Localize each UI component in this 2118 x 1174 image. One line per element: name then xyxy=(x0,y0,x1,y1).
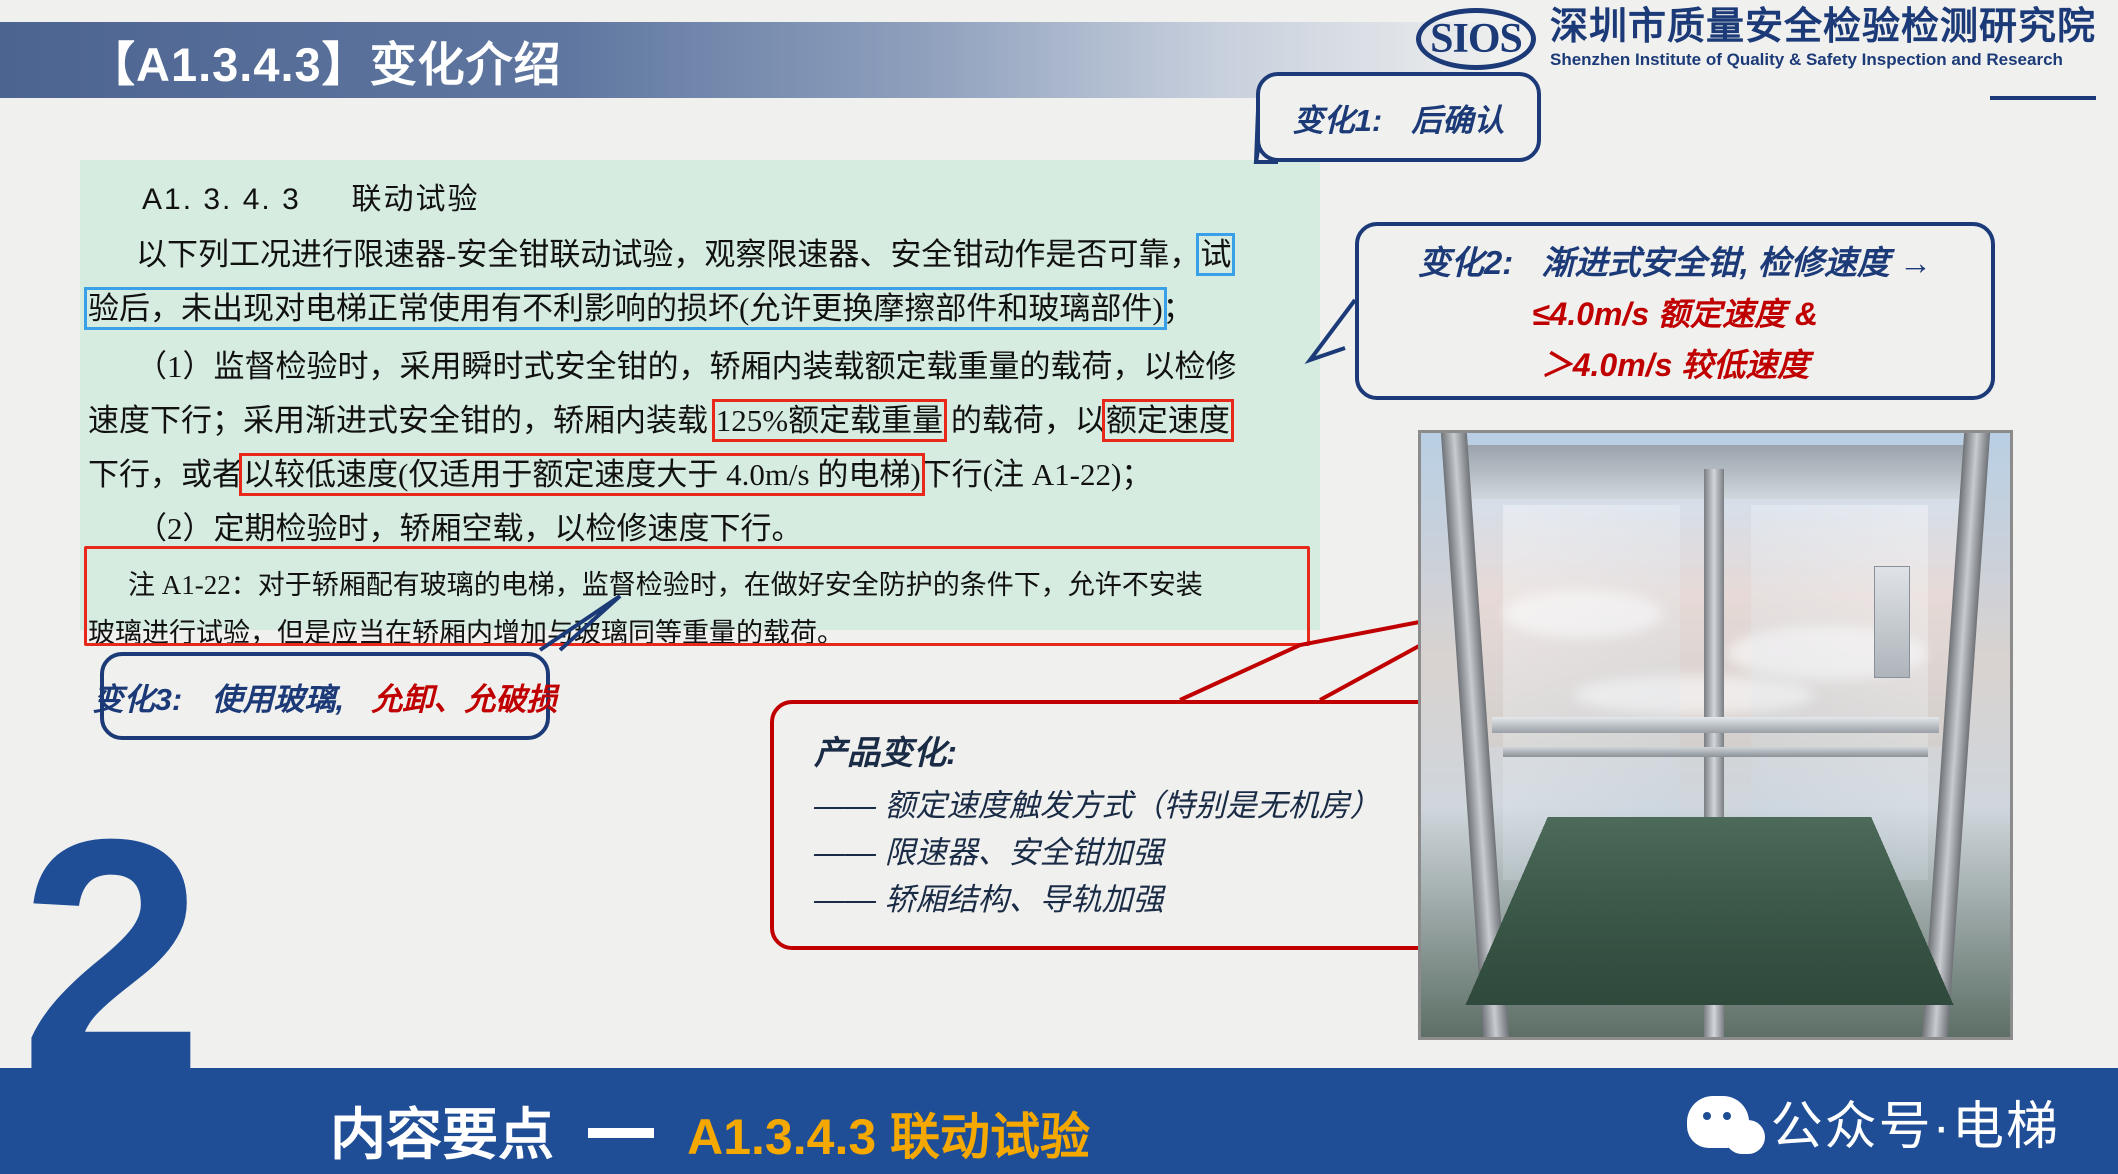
product-changes-item-1: —— 额定速度触发方式（特别是无机房） xyxy=(814,782,1456,829)
wechat-text: 公众号·电梯 xyxy=(1771,1084,2060,1159)
logo-text-block: 深圳市质量安全检验检测研究院 Shenzhen Institute of Qua… xyxy=(1550,8,2096,70)
intro-line-1-highlight: 试 xyxy=(1200,237,1231,272)
footer-divider-icon xyxy=(588,1128,654,1138)
callout-change3[interactable]: 变化3: 使用玻璃, 允卸、允破损 xyxy=(100,652,550,740)
item1-line-2-pre: 速度下行；采用渐进式安全钳的，轿厢内装载 xyxy=(88,403,716,438)
slide-canvas: 【A1.3.4.3】变化介绍 SIOS 深圳市质量安全检验检测研究院 Shenz… xyxy=(0,0,2118,1174)
logo-mark-text: SIOS xyxy=(1416,8,1536,70)
callout-change2[interactable]: 变化2: 渐进式安全钳, 检修速度 → ≤4.0m/s 额定速度 & ＞4.0m… xyxy=(1355,222,1995,400)
item1-line-3-post: 下行(注 A1-22)； xyxy=(921,457,1153,492)
wechat-icon xyxy=(1687,1096,1749,1148)
elevator-car-photo xyxy=(1418,430,2013,1040)
intro-line-2: 验后，未出现对电梯正常使用有不利影响的损坏(允许更换摩擦部件和玻璃部件)； xyxy=(88,282,1194,336)
callout-change1[interactable]: 变化1: 后确认 xyxy=(1256,72,1541,162)
org-logo: SIOS 深圳市质量安全检验检测研究院 Shenzhen Institute o… xyxy=(1416,8,2096,70)
page-title: 【A1.3.4.3】变化介绍 xyxy=(88,26,562,95)
callout-change3-label: 变化3: xyxy=(93,682,183,717)
product-changes-item-3: —— 轿厢结构、导轨加强 xyxy=(814,876,1456,923)
product-changes-title: 产品变化: xyxy=(814,726,1456,774)
callout-change1-label: 变化1: xyxy=(1293,103,1383,138)
logo-chinese-name: 深圳市质量安全检验检测研究院 xyxy=(1550,8,2096,48)
item1-line-2-highlight-125: 125%额定载重量 xyxy=(716,403,943,438)
photo-glass-floor xyxy=(1466,817,1953,1004)
note-line-1: 注 A1-22：对于轿厢配有玻璃的电梯，监督检验时，在做好安全防护的条件下，允许… xyxy=(128,558,1203,612)
footer-bar: 内容要点 A1.3.4.3 联动试验 公众号·电梯 xyxy=(0,1068,2118,1174)
intro-line-2-highlight: 验后，未出现对电梯正常使用有不利影响的损坏(允许更换摩擦部件和玻璃部件) xyxy=(88,291,1163,326)
footer-main-text: 内容要点 xyxy=(330,1103,554,1166)
photo-control-panel xyxy=(1874,566,1910,678)
item1-line-3-highlight-lower-speed: 以较低速度(仅适用于额定速度大于 4.0m/s 的电梯) xyxy=(243,457,921,492)
callout-change3-body: 使用玻璃, xyxy=(211,682,344,717)
photo-handrail xyxy=(1492,717,1940,733)
callout-change2-red-line2: ＞4.0m/s 较低速度 xyxy=(1541,340,1810,386)
callout-change2-line1: 变化2: 渐进式安全钳, 检修速度 → xyxy=(1418,236,1932,284)
callout-change1-text: 变化1: 后确认 xyxy=(1293,95,1505,140)
item1-line-3: 下行，或者以较低速度(仅适用于额定速度大于 4.0m/s 的电梯)下行(注 A1… xyxy=(88,448,1152,502)
callout-change3-red: 允卸、允破损 xyxy=(371,682,557,717)
item1-line-1: （1）监督检验时，采用瞬时式安全钳的，轿厢内装载额定载重量的载荷，以检修 xyxy=(136,340,1237,394)
clause-title: 联动试验 xyxy=(351,183,479,216)
logo-english-name: Shenzhen Institute of Quality & Safety I… xyxy=(1550,50,2096,70)
callout-change2-label: 变化2: xyxy=(1418,244,1513,281)
item1-line-2: 速度下行；采用渐进式安全钳的，轿厢内装载 125%额定载重量 的载荷，以额定速度 xyxy=(88,394,1230,448)
product-changes-box[interactable]: 产品变化: —— 额定速度触发方式（特别是无机房） —— 限速器、安全钳加强 —… xyxy=(770,700,1460,950)
intro-line-1: 以下列工况进行限速器-安全钳联动试验，观察限速器、安全钳动作是否可靠，试 xyxy=(136,228,1231,282)
photo-handrail-lower xyxy=(1503,747,1927,757)
callout-change2-red-line1: ≤4.0m/s 额定速度 & xyxy=(1532,289,1818,335)
wechat-watermark: 公众号·电梯 xyxy=(1687,1084,2060,1159)
item1-line-3-pre: 下行，或者 xyxy=(88,457,243,492)
logo-underline-rule xyxy=(1990,96,2096,100)
clause-heading: A1. 3. 4. 3 联动试验 xyxy=(142,174,479,218)
item1-line-2-highlight-rated-speed: 额定速度 xyxy=(1106,403,1230,438)
sios-logo-icon: SIOS xyxy=(1416,8,1536,70)
callout-change1-body: 后确认 xyxy=(1411,103,1504,138)
clause-number: A1. 3. 4. 3 xyxy=(142,183,301,216)
item2-line: （2）定期检验时，轿厢空载，以检修速度下行。 xyxy=(136,502,803,556)
item1-line-2-mid: 的载荷，以 xyxy=(943,403,1106,438)
intro-line-1-text: 以下列工况进行限速器-安全钳联动试验，观察限速器、安全钳动作是否可靠， xyxy=(136,237,1200,272)
callout-change3-text: 变化3: 使用玻璃, 允卸、允破损 xyxy=(93,674,558,719)
standard-text-panel: A1. 3. 4. 3 联动试验 以下列工况进行限速器-安全钳联动试验，观察限速… xyxy=(80,160,1320,630)
footer-title: 内容要点 A1.3.4.3 联动试验 xyxy=(330,1090,1090,1171)
callout-change2-body: 渐进式安全钳, 检修速度 → xyxy=(1542,244,1933,281)
product-changes-item-2: —— 限速器、安全钳加强 xyxy=(814,829,1456,876)
intro-line-2-tail: ； xyxy=(1163,291,1194,326)
footer-subtitle: A1.3.4.3 联动试验 xyxy=(687,1109,1090,1165)
